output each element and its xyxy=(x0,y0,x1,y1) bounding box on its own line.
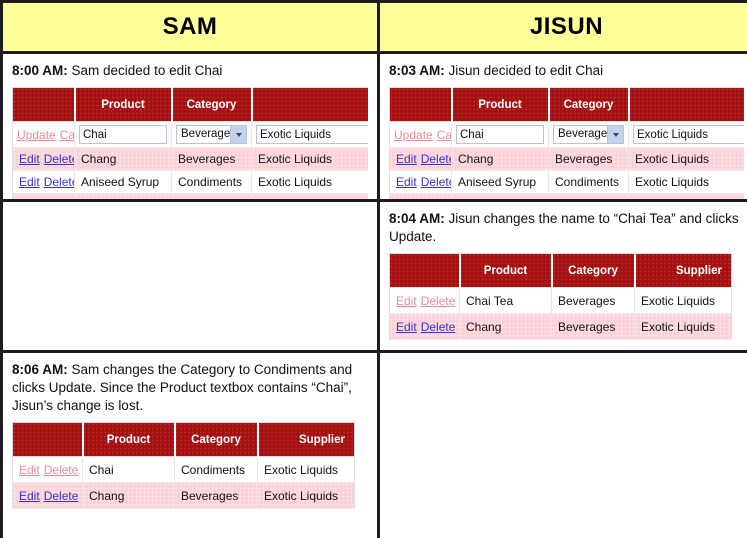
cell-supplier: Exotic Liquids xyxy=(252,171,369,194)
column-header-supplier[interactable]: Supplier xyxy=(629,88,745,122)
product-editor-cell xyxy=(452,122,549,148)
column-header-product[interactable]: Product xyxy=(83,423,175,457)
products-gridview-jisun-803: Product Category Supplier UpdateCancel B… xyxy=(389,87,744,199)
products-gridview-sam-800: Product Category Supplier UpdateCancel B… xyxy=(12,87,368,199)
table-row: EditDelete Chang Beverages Exotic Liquid… xyxy=(13,148,369,171)
column-header-supplier[interactable]: Supplier xyxy=(258,423,355,457)
column-header-command[interactable] xyxy=(390,254,460,288)
table-header-row: Product Category Supplier xyxy=(390,254,732,288)
cell-category: Condiments xyxy=(175,457,258,483)
edit-link[interactable]: Edit xyxy=(396,175,417,189)
concurrency-illustration-page: SAM JISUN 8:00 AM: Sam decided to edit C… xyxy=(0,0,747,538)
category-editor-cell: Beverages xyxy=(549,122,629,148)
supplier-textbox[interactable] xyxy=(256,125,368,144)
panel-header-jisun: JISUN xyxy=(380,3,747,51)
cell-jisun-803: 8:03 AM: Jisun decided to edit Chai Prod… xyxy=(380,54,747,199)
table-header-row: Product Category Supplier xyxy=(13,88,369,122)
chevron-down-icon[interactable] xyxy=(230,126,246,143)
row-command-cell: EditDelete xyxy=(13,148,75,171)
column-header-supplier[interactable]: Supplier xyxy=(252,88,369,122)
column-header-command[interactable] xyxy=(13,88,75,122)
products-gridview-jisun-804: Product Category Supplier EditDelete Cha… xyxy=(389,253,732,340)
cell-supplier: Exotic Liquids xyxy=(258,457,355,483)
cell-category: Beverages xyxy=(172,148,252,171)
table-header-row: Product Category Supplier xyxy=(13,423,355,457)
delete-link[interactable]: Delete xyxy=(44,463,79,477)
cell-supplier: New Orleans Cajun Delights xyxy=(629,194,745,200)
cell-product: Chang xyxy=(460,314,552,340)
edit-link[interactable]: Edit xyxy=(19,489,40,503)
column-header-command[interactable] xyxy=(390,88,452,122)
caption-time: 8:00 AM: xyxy=(12,63,68,78)
cell-category: Beverages xyxy=(552,288,635,314)
cell-sam-800: 8:00 AM: Sam decided to edit Chai Produc… xyxy=(3,54,377,199)
cell-supplier: Exotic Liquids xyxy=(635,288,732,314)
caption-time: 8:04 AM: xyxy=(389,211,445,226)
row-command-cell: EditDelete xyxy=(390,194,452,200)
cell-supplier: Exotic Liquids xyxy=(629,171,745,194)
cell-product: Aniseed Syrup xyxy=(452,171,549,194)
delete-link[interactable]: Delete xyxy=(421,294,456,308)
cell-supplier: New Orleans Cajun Delights xyxy=(252,194,369,200)
cell-category: Condiments xyxy=(549,194,629,200)
row-command-cell: EditDelete xyxy=(390,314,460,340)
cell-category: Beverages xyxy=(549,148,629,171)
comparison-grid: SAM JISUN 8:00 AM: Sam decided to edit C… xyxy=(0,0,747,538)
update-link[interactable]: Update xyxy=(17,128,56,142)
cell-supplier: Exotic Liquids xyxy=(629,148,745,171)
gridview-wrapper-sam-800: Product Category Supplier UpdateCancel B… xyxy=(12,87,368,199)
cell-sam-806: 8:06 AM: Sam changes the Category to Con… xyxy=(3,353,377,538)
table-row-editing: UpdateCancel Beverages xyxy=(13,122,369,148)
edit-link[interactable]: Edit xyxy=(396,320,417,334)
supplier-editor-cell xyxy=(252,122,369,148)
caption-sam-800: 8:00 AM: Sam decided to edit Chai xyxy=(12,62,368,80)
cell-product: Chang xyxy=(452,148,549,171)
cell-sam-empty-804 xyxy=(3,202,377,350)
cancel-link[interactable]: Cancel xyxy=(437,128,452,142)
gridview-wrapper-jisun-803: Product Category Supplier UpdateCancel B… xyxy=(389,87,744,199)
cell-category: Beverages xyxy=(175,483,258,509)
column-header-product[interactable]: Product xyxy=(75,88,172,122)
supplier-editor-cell xyxy=(629,122,745,148)
gridview-wrapper-sam-806: Product Category Supplier EditDelete Cha… xyxy=(12,422,368,509)
table-row: EditDelete Chef Anton's Cajun Condiments… xyxy=(390,194,745,200)
category-dropdown-value: Beverages xyxy=(181,128,236,140)
table-row: EditDelete Chai Tea Beverages Exotic Liq… xyxy=(390,288,732,314)
table-row: EditDelete Chai Condiments Exotic Liquid… xyxy=(13,457,355,483)
cell-supplier: Exotic Liquids xyxy=(635,314,732,340)
column-header-category[interactable]: Category xyxy=(552,254,635,288)
row-command-cell: UpdateCancel xyxy=(13,122,75,148)
edit-link[interactable]: Edit xyxy=(396,152,417,166)
caption-text: Jisun decided to edit Chai xyxy=(445,63,603,78)
row-command-cell: EditDelete xyxy=(390,288,460,314)
edit-link[interactable]: Edit xyxy=(396,294,417,308)
edit-link[interactable]: Edit xyxy=(19,175,40,189)
cell-product: Chang xyxy=(75,148,172,171)
table-row: EditDelete Aniseed Syrup Condiments Exot… xyxy=(390,171,745,194)
cell-category: Condiments xyxy=(172,171,252,194)
cell-product: Chef Anton's Cajun xyxy=(75,194,172,200)
gridview-wrapper-jisun-804: Product Category Supplier EditDelete Cha… xyxy=(389,253,744,340)
delete-link[interactable]: Delete xyxy=(421,320,456,334)
products-gridview-sam-806: Product Category Supplier EditDelete Cha… xyxy=(12,422,355,509)
category-dropdown[interactable]: Beverages xyxy=(176,125,247,144)
delete-link[interactable]: Delete xyxy=(44,152,75,166)
table-row: EditDelete Chang Beverages Exotic Liquid… xyxy=(390,314,732,340)
table-row: EditDelete Chang Beverages Exotic Liquid… xyxy=(13,483,355,509)
cancel-link[interactable]: Cancel xyxy=(60,128,75,142)
cell-category: Beverages xyxy=(552,314,635,340)
caption-time: 8:03 AM: xyxy=(389,63,445,78)
row-command-cell: EditDelete xyxy=(13,171,75,194)
cell-category: Condiments xyxy=(549,171,629,194)
row-command-cell: EditDelete xyxy=(13,457,83,483)
panel-title-sam: SAM xyxy=(163,13,218,41)
table-row: EditDelete Chef Anton's Cajun Condiments… xyxy=(13,194,369,200)
cell-product: Chang xyxy=(83,483,175,509)
category-dropdown[interactable]: Beverages xyxy=(553,125,624,144)
column-header-category[interactable]: Category xyxy=(549,88,629,122)
cell-product: Chef Anton's Cajun xyxy=(452,194,549,200)
product-textbox[interactable] xyxy=(79,125,167,144)
cell-product: Chai Tea xyxy=(460,288,552,314)
category-dropdown-value: Beverages xyxy=(558,128,613,140)
table-row: EditDelete Chang Beverages Exotic Liquid… xyxy=(390,148,745,171)
supplier-textbox[interactable] xyxy=(633,125,744,144)
caption-jisun-803: 8:03 AM: Jisun decided to edit Chai xyxy=(389,62,744,80)
delete-link[interactable]: Delete xyxy=(421,152,452,166)
cell-jisun-empty-806 xyxy=(380,353,747,538)
cell-category: Condiments xyxy=(172,194,252,200)
row-command-cell: EditDelete xyxy=(13,194,75,200)
row-command-cell: EditDelete xyxy=(390,148,452,171)
update-link[interactable]: Update xyxy=(394,128,433,142)
column-header-product[interactable]: Product xyxy=(460,254,552,288)
edit-link[interactable]: Edit xyxy=(19,463,40,477)
caption-time: 8:06 AM: xyxy=(12,362,68,377)
column-header-category[interactable]: Category xyxy=(172,88,252,122)
chevron-down-icon[interactable] xyxy=(607,126,623,143)
column-header-category[interactable]: Category xyxy=(175,423,258,457)
column-header-supplier[interactable]: Supplier xyxy=(635,254,732,288)
category-editor-cell: Beverages xyxy=(172,122,252,148)
column-header-command[interactable] xyxy=(13,423,83,457)
table-row-editing: UpdateCancel Beverages xyxy=(390,122,745,148)
caption-jisun-804: 8:04 AM: Jisun changes the name to “Chai… xyxy=(389,210,744,246)
caption-text: Sam decided to edit Chai xyxy=(68,63,223,78)
table-header-row: Product Category Supplier xyxy=(390,88,745,122)
row-command-cell: EditDelete xyxy=(390,171,452,194)
product-textbox[interactable] xyxy=(456,125,544,144)
cell-supplier: Exotic Liquids xyxy=(258,483,355,509)
delete-link[interactable]: Delete xyxy=(44,489,79,503)
cell-jisun-804: 8:04 AM: Jisun changes the name to “Chai… xyxy=(380,202,747,350)
delete-link[interactable]: Delete xyxy=(421,175,452,189)
product-editor-cell xyxy=(75,122,172,148)
cell-supplier: Exotic Liquids xyxy=(252,148,369,171)
row-command-cell: UpdateCancel xyxy=(390,122,452,148)
cell-product: Chai xyxy=(83,457,175,483)
row-command-cell: EditDelete xyxy=(13,483,83,509)
table-row: EditDelete Aniseed Syrup Condiments Exot… xyxy=(13,171,369,194)
cell-product: Aniseed Syrup xyxy=(75,171,172,194)
edit-link[interactable]: Edit xyxy=(19,152,40,166)
caption-sam-806: 8:06 AM: Sam changes the Category to Con… xyxy=(12,361,368,415)
delete-link[interactable]: Delete xyxy=(44,175,75,189)
column-header-product[interactable]: Product xyxy=(452,88,549,122)
panel-title-jisun: JISUN xyxy=(530,13,603,41)
panel-header-sam: SAM xyxy=(3,3,377,51)
